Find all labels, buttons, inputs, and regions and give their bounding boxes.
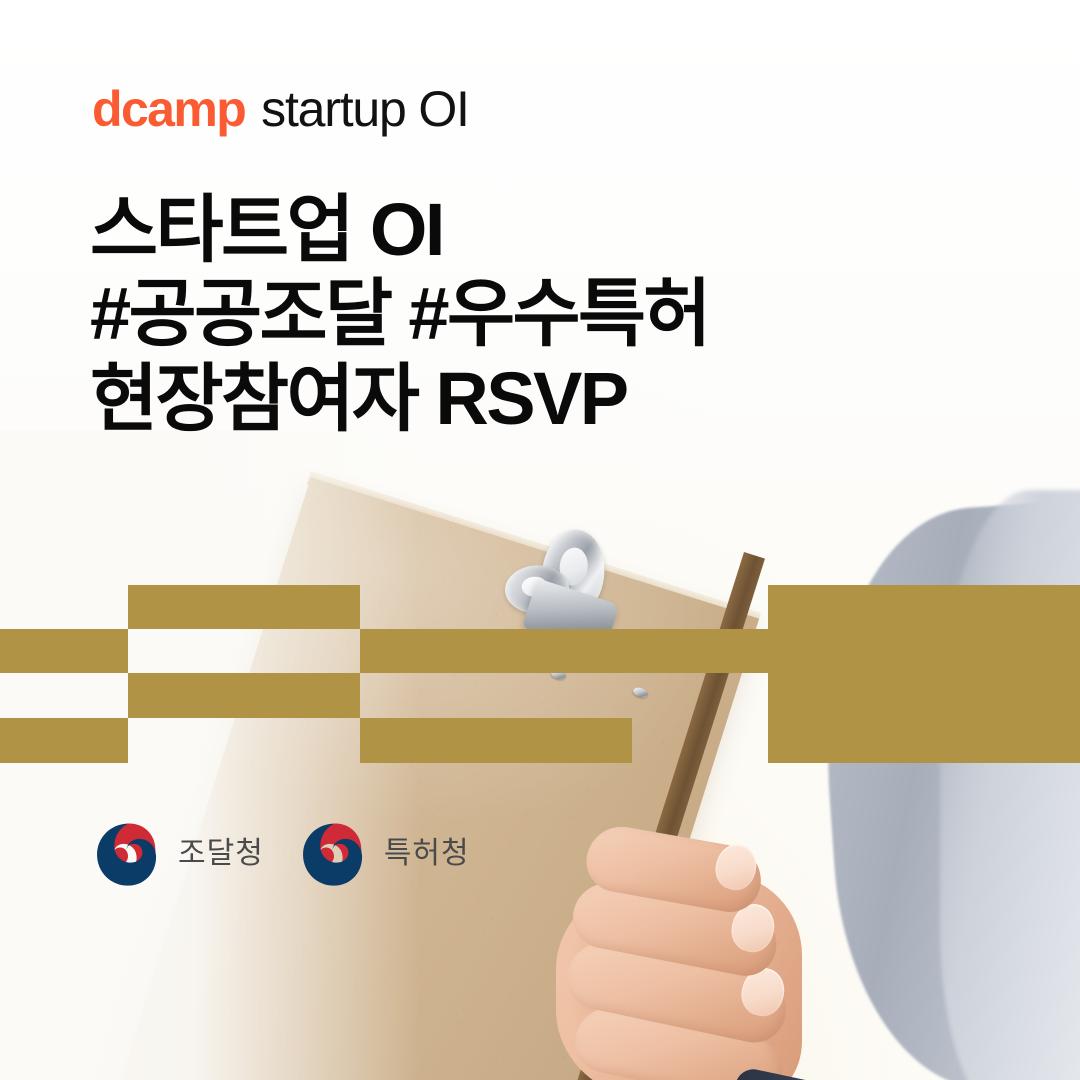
headline-line-2: #공공조달 #우수특허 — [90, 272, 990, 356]
hand-gripping-clipboard — [538, 830, 848, 1080]
agency-name-label: 특허청 — [384, 839, 470, 869]
photo-left-fade — [0, 430, 420, 1080]
poster-canvas: dcamp startup OI 스타트업 OI #공공조달 #우수특허 현장참… — [0, 0, 1080, 1080]
logo-startup-oi-text: startup OI — [261, 84, 469, 134]
agency-logo-patent: 특허청 — [298, 818, 470, 890]
agency-name-label: 조달청 — [178, 839, 264, 869]
korea-government-taegeuk-icon — [298, 818, 370, 890]
agency-logo-row: 조달청 특허청 — [92, 818, 470, 890]
headline-line-1: 스타트업 OI — [90, 188, 990, 272]
headline-block: 스타트업 OI #공공조달 #우수특허 현장참여자 RSVP — [90, 188, 990, 441]
person-shoulder-highlight — [940, 490, 1080, 1080]
hero-photo — [0, 430, 1080, 1080]
logo-dcamp-text: dcamp — [92, 84, 245, 134]
brand-logo: dcamp startup OI — [92, 84, 469, 134]
agency-logo-procurement: 조달청 — [92, 818, 264, 890]
korea-government-taegeuk-icon — [92, 818, 164, 890]
headline-line-3: 현장참여자 RSVP — [90, 357, 990, 441]
